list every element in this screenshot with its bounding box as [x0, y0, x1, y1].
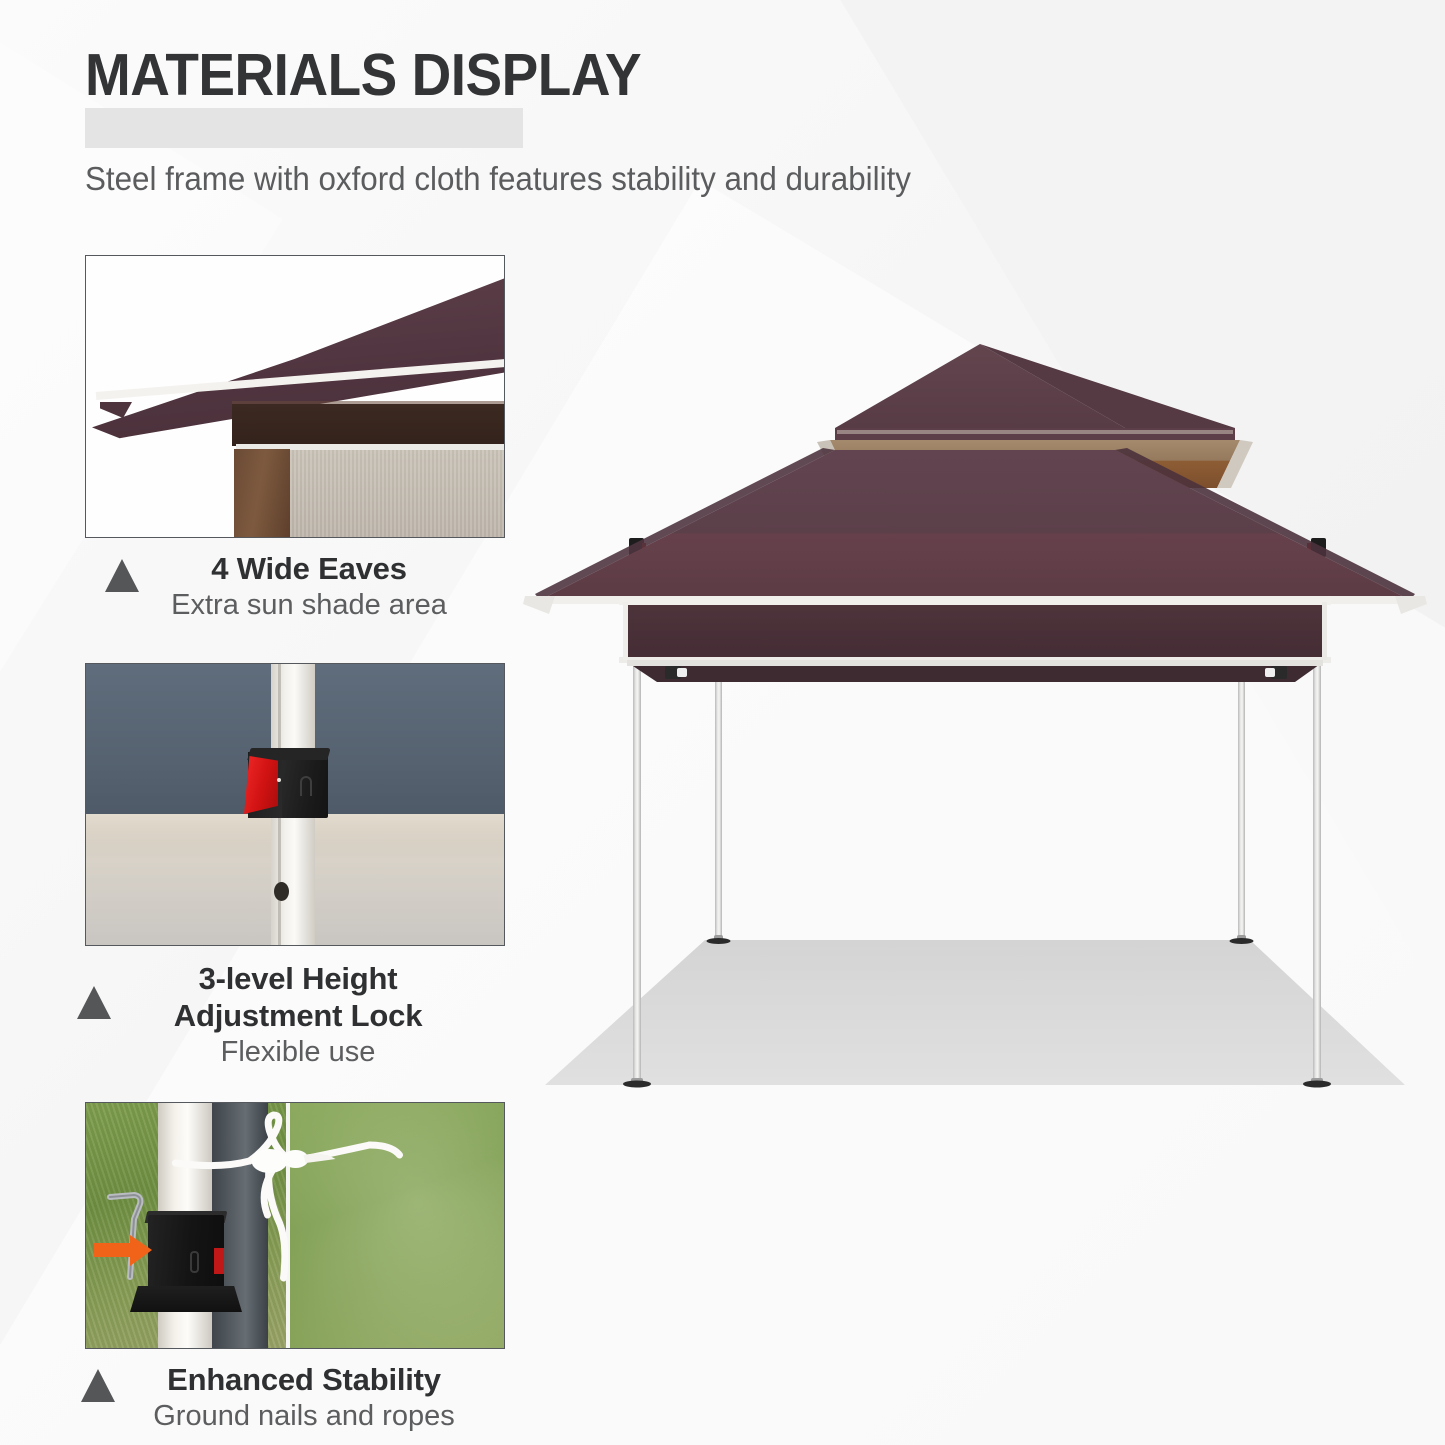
- caption-text-block: 4 Wide Eaves Extra sun shade area: [171, 550, 447, 623]
- canopy-icon: [505, 300, 1445, 1140]
- title-highlight-bar: [85, 108, 523, 148]
- feature-subtitle: Ground nails and ropes: [153, 1398, 454, 1434]
- feature-list: 4 Wide Eaves Extra sun shade area: [85, 255, 505, 1434]
- feature-thumbnail-wide-eaves: [85, 255, 505, 538]
- main-roof-center: [540, 450, 1410, 600]
- feature-thumbnail-stability: [85, 1102, 505, 1349]
- feature-title: Enhanced Stability: [153, 1361, 454, 1398]
- beige-side-panel: [290, 450, 505, 538]
- caption-text-block: 3-level Height Adjustment Lock Flexible …: [174, 960, 422, 1070]
- brown-corner-post: [234, 449, 290, 538]
- header: MATERIALS DISPLAY Steel frame with oxfor…: [85, 44, 954, 198]
- triangle-bullet-icon: [81, 1369, 115, 1402]
- lock-pin-dot: [277, 778, 281, 782]
- feature-item-height-lock: 3-level Height Adjustment Lock Flexible …: [85, 663, 505, 1070]
- feature-caption-stability: Enhanced Stability Ground nails and rope…: [85, 1349, 505, 1434]
- eave-tip-right: [1395, 596, 1427, 614]
- feature-subtitle: Extra sun shade area: [171, 587, 447, 623]
- feature-caption-height-lock: 3-level Height Adjustment Lock Flexible …: [85, 946, 505, 1070]
- valance-right-rail: [1322, 602, 1327, 660]
- feature-subtitle: Flexible use: [174, 1034, 422, 1070]
- feature-title-line2: Adjustment Lock: [174, 997, 422, 1034]
- ground-plane: [545, 940, 1405, 1085]
- eave-tip-left: [523, 596, 555, 614]
- page-title: MATERIALS DISPLAY: [85, 44, 641, 106]
- valance-top-rail: [619, 599, 1331, 605]
- feature-title: 4 Wide Eaves: [171, 550, 447, 587]
- infographic-page: MATERIALS DISPLAY Steel frame with oxfor…: [0, 0, 1445, 1445]
- under-frame-rail: [627, 660, 1323, 666]
- pole-adjustment-hole: [274, 882, 289, 901]
- rope-knot-icon: [86, 1103, 504, 1349]
- valance-dark-band: [232, 404, 505, 446]
- page-subtitle: Steel frame with oxford cloth features s…: [85, 160, 911, 198]
- title-wrapper: MATERIALS DISPLAY: [85, 44, 683, 106]
- lock-slot: [300, 776, 312, 796]
- feature-caption-wide-eaves: 4 Wide Eaves Extra sun shade area: [85, 538, 505, 623]
- spacer: [85, 1070, 505, 1102]
- feature-item-wide-eaves: 4 Wide Eaves Extra sun shade area: [85, 255, 505, 623]
- triangle-bullet-icon: [105, 559, 139, 592]
- feature-item-stability: Enhanced Stability Ground nails and rope…: [85, 1102, 505, 1434]
- upper-roof-rail: [837, 430, 1233, 434]
- red-release-lever: [244, 756, 278, 814]
- caption-text-block: Enhanced Stability Ground nails and rope…: [153, 1361, 454, 1434]
- valance-left-rail: [623, 602, 628, 660]
- triangle-bullet-icon: [77, 986, 111, 1019]
- product-render-canopy: [505, 300, 1445, 1140]
- feature-title-line1: 3-level Height: [174, 960, 422, 997]
- spacer: [85, 623, 505, 663]
- bracket-right-cap: [1265, 668, 1275, 677]
- front-valance: [623, 602, 1327, 660]
- feature-thumbnail-height-lock: [85, 663, 505, 946]
- bracket-left-cap: [677, 668, 687, 677]
